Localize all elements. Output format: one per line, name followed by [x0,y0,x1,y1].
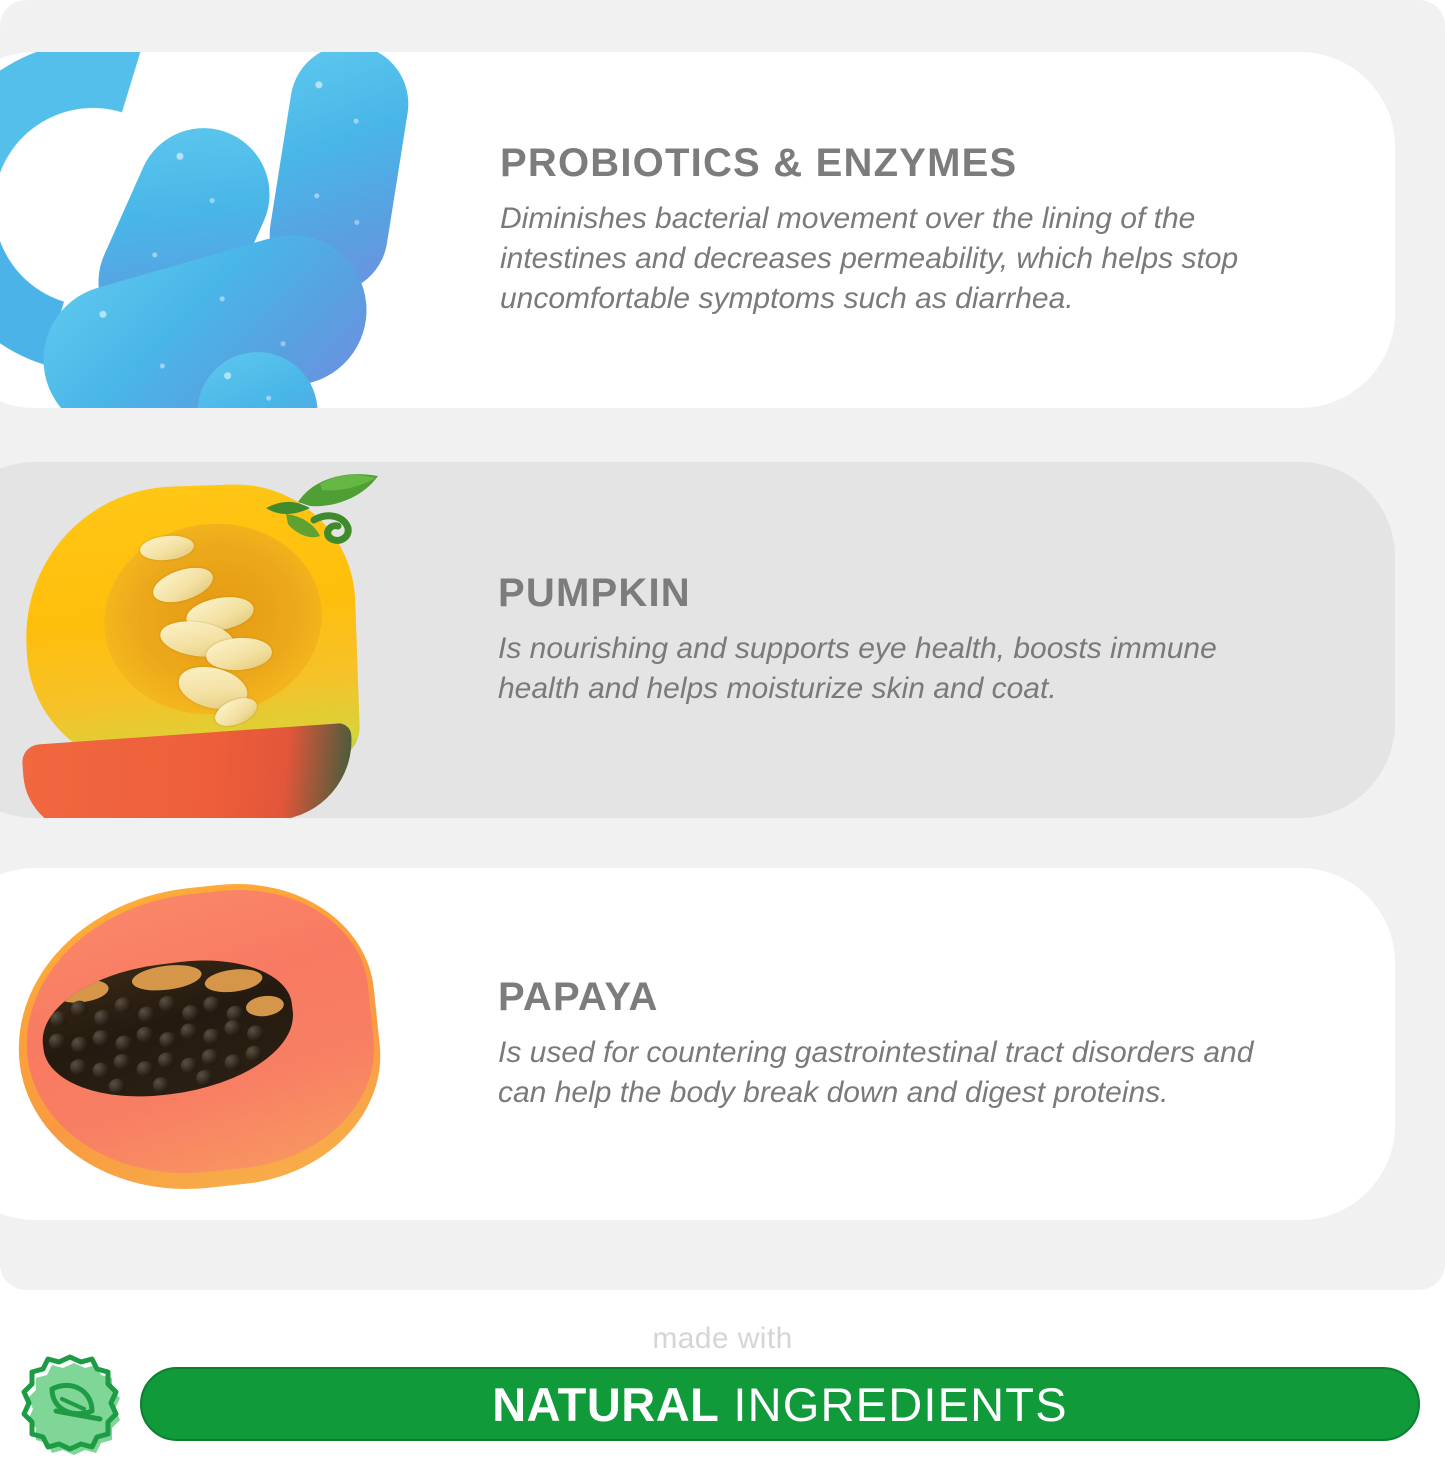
ingredient-title: PROBIOTICS & ENZYMES [500,141,1265,185]
ingredients-panel: PROBIOTICS & ENZYMES Diminishes bacteria… [0,0,1445,1290]
ingredient-image-pumpkin [0,462,440,818]
ingredient-description: Is nourishing and supports eye health, b… [498,629,1265,709]
leaf-seal-badge-icon [0,1345,140,1460]
ingredient-description: Diminishes bacterial movement over the l… [500,199,1265,319]
ingredient-card-pumpkin: PUMPKIN Is nourishing and supports eye h… [0,462,1395,818]
ingredient-title: PUMPKIN [498,571,1265,615]
ingredient-card-probiotics-enzymes: PROBIOTICS & ENZYMES Diminishes bacteria… [0,52,1395,408]
made-with-label: made with [0,1322,1445,1356]
pumpkin-vine-leaves [236,468,396,548]
ingredient-image-probiotics [0,52,440,408]
ingredient-copy: PAPAYA Is used for countering gastrointe… [440,975,1395,1113]
infographic-page: PROBIOTICS & ENZYMES Diminishes bacteria… [0,0,1445,1462]
ingredient-title: PAPAYA [498,975,1265,1019]
ingredient-copy: PUMPKIN Is nourishing and supports eye h… [440,571,1395,709]
ingredient-copy: PROBIOTICS & ENZYMES Diminishes bacteria… [440,141,1395,319]
banner-bold-text: NATURAL [492,1377,719,1432]
natural-ingredients-banner-row: NATURAL INGREDIENTS [0,1358,1445,1450]
ingredient-image-papaya [0,868,440,1220]
banner-light-text: INGREDIENTS [733,1377,1067,1432]
ingredient-description: Is used for countering gastrointestinal … [498,1033,1265,1113]
ingredient-card-papaya: PAPAYA Is used for countering gastrointe… [0,868,1395,1220]
natural-ingredients-banner: NATURAL INGREDIENTS [140,1367,1420,1441]
